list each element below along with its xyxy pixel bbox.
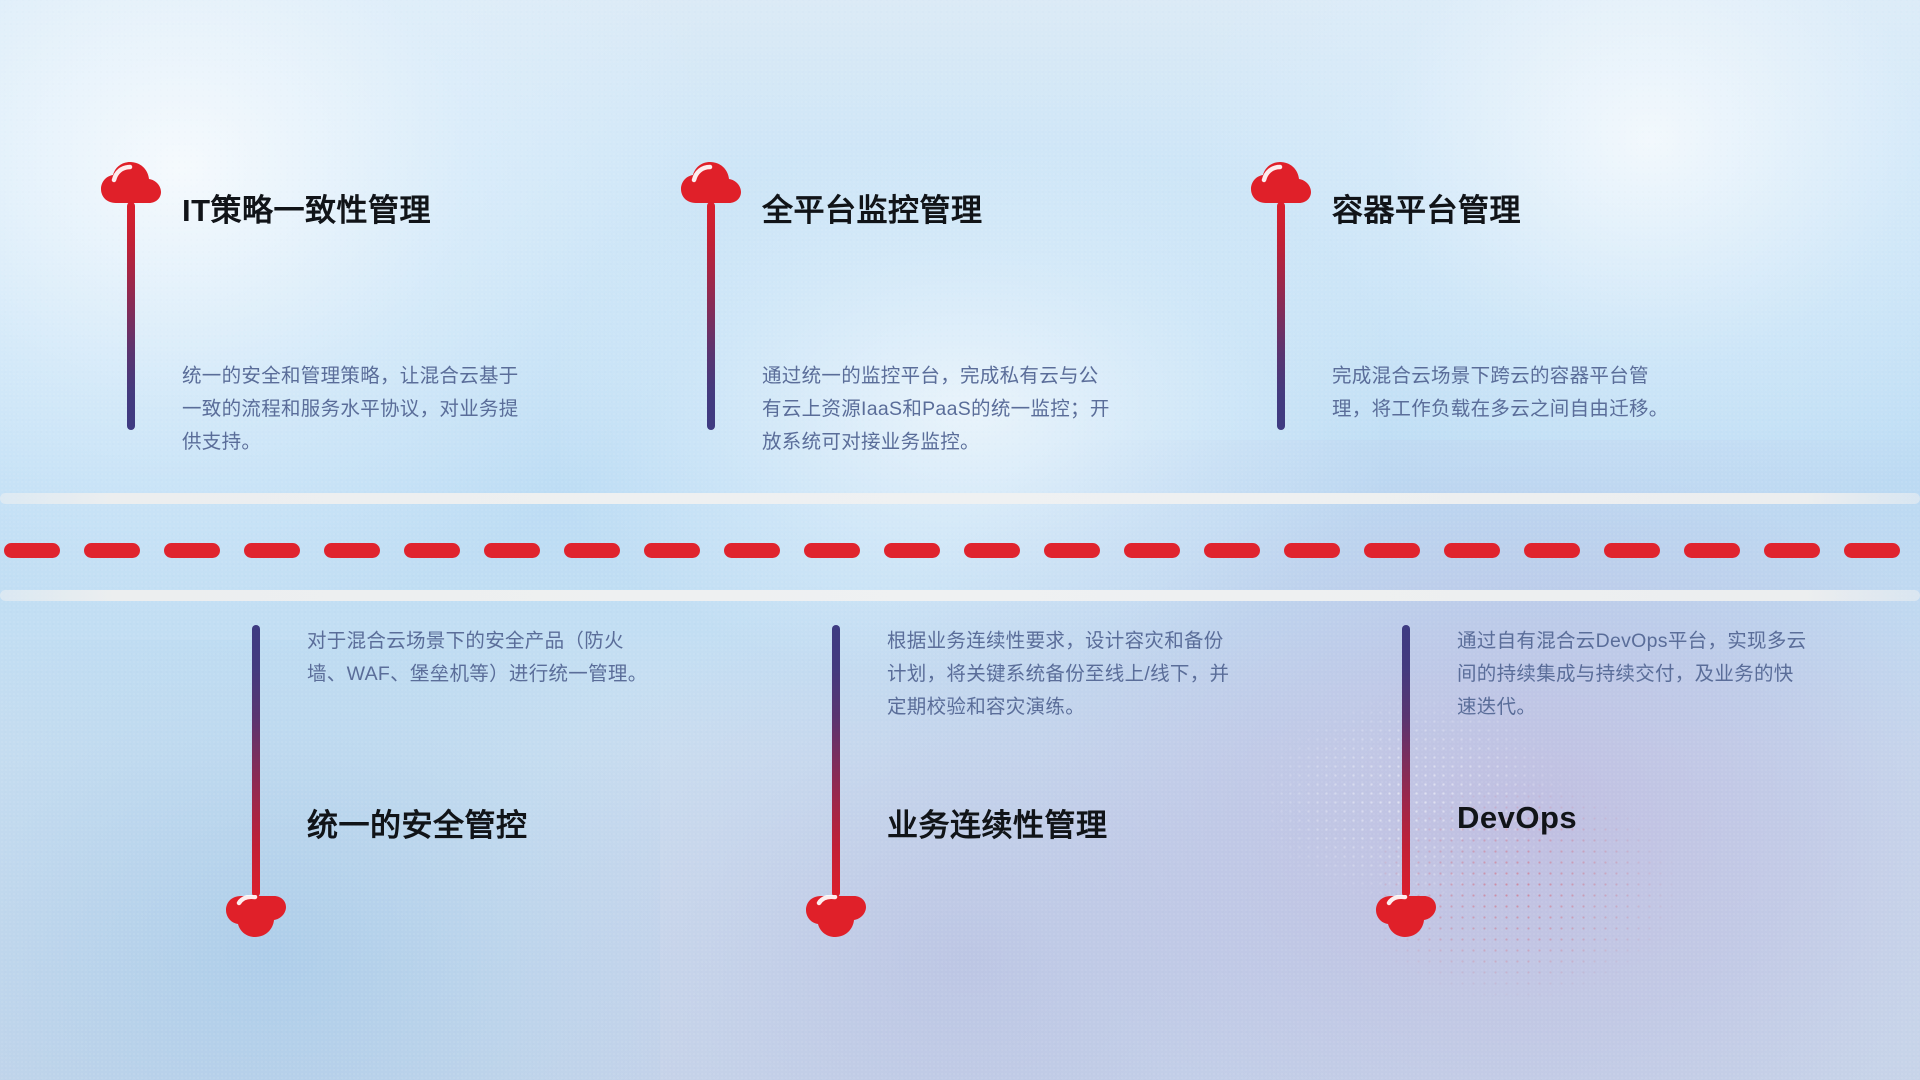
divider-dash [1204, 543, 1260, 558]
divider-band-bottom [0, 590, 1920, 601]
divider-dash [884, 543, 940, 558]
column-description: 对于混合云场景下的安全产品（防火墙、WAF、堡垒机等）进行统一管理。 [307, 625, 657, 691]
divider-dash [1284, 543, 1340, 558]
column-description: 通过统一的监控平台，完成私有云与公有云上资源IaaS和PaaS的统一监控；开放系… [762, 360, 1112, 459]
column-title: 全平台监控管理 [762, 185, 983, 230]
column-title: 容器平台管理 [1332, 185, 1521, 230]
divider-dash [564, 543, 620, 558]
divider-dashed-line [0, 542, 1920, 558]
column-description: 根据业务连续性要求，设计容灾和备份计划，将关键系统备份至线上/线下，并定期校验和… [887, 625, 1237, 724]
divider-dash [324, 543, 380, 558]
divider-dash [164, 543, 220, 558]
pin-stem [252, 625, 260, 897]
divider-dash [804, 543, 860, 558]
divider-dash [1684, 543, 1740, 558]
divider-dash [1604, 543, 1660, 558]
divider-dash [1044, 543, 1100, 558]
divider-dash [404, 543, 460, 558]
pin-stem [1277, 202, 1285, 430]
divider-band-top [0, 493, 1920, 504]
column-description: 完成混合云场景下跨云的容器平台管理，将工作负载在多云之间自由迁移。 [1332, 360, 1682, 426]
column-title: 业务连续性管理 [887, 800, 1108, 845]
divider-dash [964, 543, 1020, 558]
pin-stem [832, 625, 840, 897]
divider-dash [1764, 543, 1820, 558]
divider-dash [1844, 543, 1900, 558]
column-title: IT策略一致性管理 [182, 185, 431, 230]
infographic-canvas: IT策略一致性管理 统一的安全和管理策略，让混合云基于一致的流程和服务水平协议，… [0, 0, 1920, 1080]
cloud-pin-icon [1250, 160, 1312, 204]
divider-dash [244, 543, 300, 558]
pin-stem [707, 202, 715, 430]
cloud-pin-icon [100, 160, 162, 204]
divider-dash [84, 543, 140, 558]
divider-dash [1364, 543, 1420, 558]
pin-stem [1402, 625, 1410, 897]
column-description: 通过自有混合云DevOps平台，实现多云间的持续集成与持续交付，及业务的快速迭代… [1457, 625, 1807, 724]
pin-stem [127, 202, 135, 430]
column-description: 统一的安全和管理策略，让混合云基于一致的流程和服务水平协议，对业务提供支持。 [182, 360, 532, 459]
divider-dash [1124, 543, 1180, 558]
column-title: 统一的安全管控 [307, 800, 528, 845]
divider-dash [1444, 543, 1500, 558]
divider-dash [724, 543, 780, 558]
column-title: DevOps [1457, 800, 1577, 836]
cloud-pin-icon [680, 160, 742, 204]
divider-dash [484, 543, 540, 558]
divider-dash [1524, 543, 1580, 558]
divider-dash [4, 543, 60, 558]
divider-dash [644, 543, 700, 558]
